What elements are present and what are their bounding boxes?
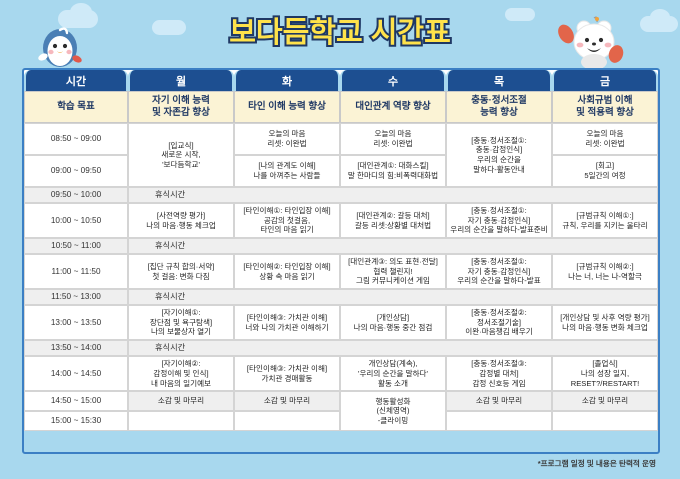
goal-mon: 자기 이해 능력및 자존감 향상: [128, 91, 234, 123]
goal-row-label: 학습 목표: [24, 91, 128, 123]
day-header-fri: 금: [552, 70, 658, 91]
session-cell-mon: [128, 411, 234, 431]
session-cell-fri: [개인상담 및 사후 역량 평가]나의 마음·행동 변화 체크업: [552, 305, 658, 340]
goal-tue: 타인 이해 능력 향상: [234, 91, 340, 123]
timetable-body: 08:50 ~ 09:00[입교식]새로운 시작,'보다듬학교'오늘의 마음리셋…: [24, 123, 658, 431]
timetable-row: 09:50 ~ 10:00휴식시간: [24, 187, 658, 203]
time-slot-label: 10:00 ~ 10:50: [24, 203, 128, 238]
session-cell-wed: 개인상담(계속),'우리의 순간을 말하다'활동 소개: [340, 356, 446, 391]
session-cell-mon: [자기이해①:장단점 및 욕구탐색]나의 보물상자 열기: [128, 305, 234, 340]
time-slot-label: 10:50 ~ 11:00: [24, 238, 128, 254]
timetable-row: 10:00 ~ 10:50[사전역량 평가]나의 마음·행동 체크업[타인이해①…: [24, 203, 658, 238]
time-slot-label: 08:50 ~ 09:00: [24, 123, 128, 155]
session-cell-wed: 행동활성화(신체영역)-클라이밍: [340, 391, 446, 431]
time-slot-label: 14:50 ~ 15:00: [24, 391, 128, 411]
session-cell-thu: [충동·정서조절①:충동·감정인식]우리의 순간을말하다-활동안내: [446, 123, 552, 187]
break-time-cell: 휴식시간: [128, 340, 658, 356]
timetable-head: 시간 월 화 수 목 금 학습 목표 자기 이해 능력및 자존감 향상 타인 이…: [24, 70, 658, 123]
session-cell-wed: [대인관계①: 대화스킬]말 한마디의 힘:비폭력대화법: [340, 155, 446, 187]
session-cell-wed: 오늘의 마음리셋: 이완법: [340, 123, 446, 155]
session-cell-wed: [개인상담]나의 마음·행동 중간 점검: [340, 305, 446, 340]
footnote-text: *프로그램 일정 및 내용은 탄력적 운영: [538, 458, 656, 469]
penguin-mascot-icon: [34, 21, 86, 73]
session-cell-tue: [234, 411, 340, 431]
session-cell-wed: [대인관계③: 의도 표현·전달]협력 챌린지!그림 커뮤니케이션 게임: [340, 254, 446, 289]
day-header-row: 시간 월 화 수 목 금: [24, 70, 658, 91]
break-time-cell: 휴식시간: [128, 289, 658, 305]
timetable: 시간 월 화 수 목 금 학습 목표 자기 이해 능력및 자존감 향상 타인 이…: [24, 70, 658, 431]
goal-wed: 대인관계 역량 향상: [340, 91, 446, 123]
session-cell-fri: 오늘의 마음리셋: 이완법: [552, 123, 658, 155]
timetable-row: 10:50 ~ 11:00휴식시간: [24, 238, 658, 254]
session-cell-mon: 소감 및 마무리: [128, 391, 234, 411]
session-cell-fri: [규범규칙 이해①:]규칙, 우리를 지키는 울타리: [552, 203, 658, 238]
session-cell-fri: [졸업식]나의 성장 일지,RESET?/RESTART!: [552, 356, 658, 391]
time-slot-label: 15:00 ~ 15:30: [24, 411, 128, 431]
session-cell-tue: 소감 및 마무리: [234, 391, 340, 411]
time-slot-label: 11:00 ~ 11:50: [24, 254, 128, 289]
timetable-row: 14:50 ~ 15:00소감 및 마무리소감 및 마무리행동활성화(신체영역)…: [24, 391, 658, 411]
session-cell-fri: [규범규칙 이해②:]나는 너, 너는 나-역할극: [552, 254, 658, 289]
day-header-mon: 월: [128, 70, 234, 91]
session-cell-tue: [타인이해②: 타인입장 이해]상황 속 마음 읽기: [234, 254, 340, 289]
session-cell-fri: [회고]5일간의 여정: [552, 155, 658, 187]
session-cell-thu: [충동·정서조절①:자기 충동·감정인식]우리의 순간을 말하다-발표: [446, 254, 552, 289]
timetable-row: 08:50 ~ 09:00[입교식]새로운 시작,'보다듬학교'오늘의 마음리셋…: [24, 123, 658, 155]
day-header-wed: 수: [340, 70, 446, 91]
session-cell-tue: 오늘의 마음리셋: 이완법: [234, 123, 340, 155]
session-cell-thu: [충동·정서조절③:감정별 대처]감정 신호등 게임: [446, 356, 552, 391]
break-time-cell: 휴식시간: [128, 238, 658, 254]
break-time-cell: 휴식시간: [128, 187, 658, 203]
session-cell-mon: [자기이해②:감정이해 및 인식]내 마음의 일기예보: [128, 356, 234, 391]
session-cell-thu: 소감 및 마무리: [446, 391, 552, 411]
timetable-container: 시간 월 화 수 목 금 학습 목표 자기 이해 능력및 자존감 향상 타인 이…: [24, 70, 658, 431]
session-cell-thu: [446, 411, 552, 431]
session-cell-mon: [입교식]새로운 시작,'보다듬학교': [128, 123, 234, 187]
time-slot-label: 11:50 ~ 13:00: [24, 289, 128, 305]
goal-row: 학습 목표 자기 이해 능력및 자존감 향상 타인 이해 능력 향상 대인관계 …: [24, 91, 658, 123]
time-slot-label: 13:50 ~ 14:00: [24, 340, 128, 356]
timetable-row: 11:00 ~ 11:50[집단 규칙 합의·서약]첫 걸음: 변화 다짐[타인…: [24, 254, 658, 289]
session-cell-mon: [사전역량 평가]나의 마음·행동 체크업: [128, 203, 234, 238]
day-header-time: 시간: [24, 70, 128, 91]
timetable-row: 09:00 ~ 09:50[나의 관계도 이해]나를 아껴주는 사람들[대인관계…: [24, 155, 658, 187]
time-slot-label: 09:00 ~ 09:50: [24, 155, 128, 187]
goal-thu: 충동·정서조절능력 향상: [446, 91, 552, 123]
timetable-row: 13:00 ~ 13:50[자기이해①:장단점 및 욕구탐색]나의 보물상자 열…: [24, 305, 658, 340]
session-cell-tue: [타인이해①: 타인입장 이해]공감의 첫걸음,타인의 마음 읽기: [234, 203, 340, 238]
bear-mascot-icon: [556, 14, 624, 72]
session-cell-mon: [집단 규칙 합의·서약]첫 걸음: 변화 다짐: [128, 254, 234, 289]
time-slot-label: 09:50 ~ 10:00: [24, 187, 128, 203]
time-slot-label: 14:00 ~ 14:50: [24, 356, 128, 391]
session-cell-tue: [나의 관계도 이해]나를 아껴주는 사람들: [234, 155, 340, 187]
session-cell-tue: [타인이해③: 가치관 이해]가치관 경매활동: [234, 356, 340, 391]
session-cell-fri: [552, 411, 658, 431]
session-cell-thu: [충동·정서조절②:정서조절기술]이완·마음챙김 배우기: [446, 305, 552, 340]
day-header-thu: 목: [446, 70, 552, 91]
timetable-row: 13:50 ~ 14:00휴식시간: [24, 340, 658, 356]
timetable-row: 11:50 ~ 13:00휴식시간: [24, 289, 658, 305]
session-cell-wed: [대인관계②: 갈등 대처]갈등 리셋:상황별 대처법: [340, 203, 446, 238]
day-header-tue: 화: [234, 70, 340, 91]
timetable-row: 14:00 ~ 14:50[자기이해②:감정이해 및 인식]내 마음의 일기예보…: [24, 356, 658, 391]
session-cell-tue: [타인이해③: 가치관 이해]너와 나의 가치관 이해하기: [234, 305, 340, 340]
session-cell-fri: 소감 및 마무리: [552, 391, 658, 411]
session-cell-thu: [충동·정서조절①:자기 충동·감정인식]우리의 순간을 말하다-발표준비: [446, 203, 552, 238]
goal-fri: 사회규범 이해및 적용력 향상: [552, 91, 658, 123]
time-slot-label: 13:00 ~ 13:50: [24, 305, 128, 340]
